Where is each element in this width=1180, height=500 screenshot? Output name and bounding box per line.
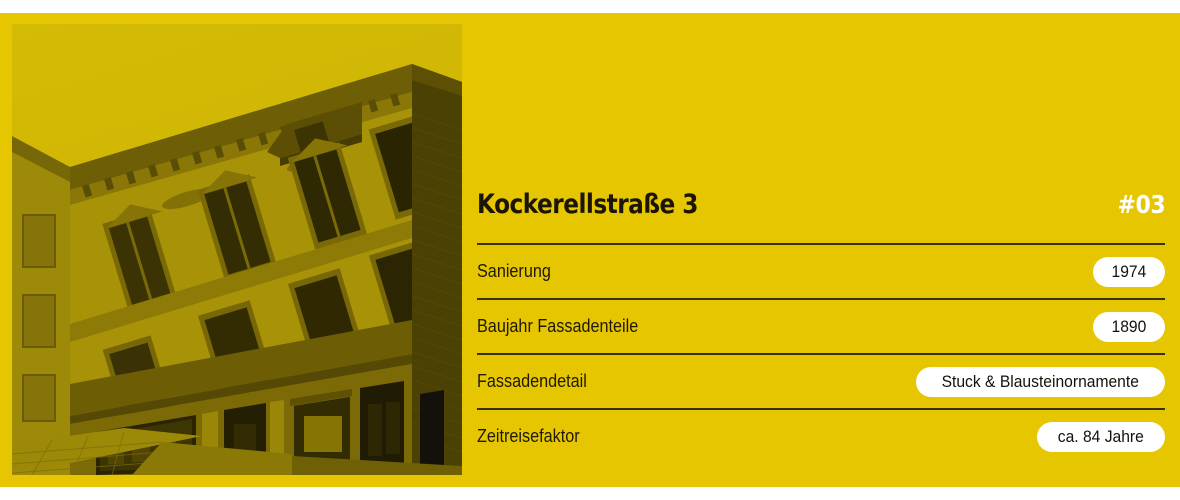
table-row: Zeitreisefaktor ca. 84 Jahre xyxy=(477,408,1165,463)
details-panel: Kockerellstraße 3 #03 Sanierung 1974 Bau… xyxy=(477,24,1165,475)
row-value-fassadendetail: Stuck & Blausteinornamente xyxy=(916,367,1165,397)
row-label-fassadendetail: Fassadendetail xyxy=(477,371,587,392)
table-row: Fassadendetail Stuck & Blausteinornament… xyxy=(477,353,1165,408)
table-row: Sanierung 1974 xyxy=(477,243,1165,298)
number-badge: #03 xyxy=(1117,190,1165,219)
row-label-zeitreisefaktor: Zeitreisefaktor xyxy=(477,426,580,447)
row-label-sanierung: Sanierung xyxy=(477,261,551,282)
info-card: Kockerellstraße 3 #03 Sanierung 1974 Bau… xyxy=(0,13,1180,487)
row-value-text: Stuck & Blausteinornamente xyxy=(942,367,1139,397)
building-photo xyxy=(12,24,462,475)
row-value-baujahr-fassadenteile: 1890 xyxy=(1093,312,1165,342)
row-value-sanierung: 1974 xyxy=(1093,257,1165,287)
row-value-text: 1890 xyxy=(1112,312,1147,342)
facade-illustration xyxy=(12,24,462,475)
table-row: Baujahr Fassadenteile 1890 xyxy=(477,298,1165,353)
row-value-zeitreisefaktor: ca. 84 Jahre xyxy=(1037,422,1165,452)
title-row: Kockerellstraße 3 #03 xyxy=(477,189,1165,229)
details-list: Sanierung 1974 Baujahr Fassadenteile 189… xyxy=(477,243,1165,463)
row-value-text: 1974 xyxy=(1112,257,1147,287)
row-value-text: ca. 84 Jahre xyxy=(1058,422,1144,452)
page-title: Kockerellstraße 3 xyxy=(477,189,698,220)
row-label-baujahr-fassadenteile: Baujahr Fassadenteile xyxy=(477,316,638,337)
